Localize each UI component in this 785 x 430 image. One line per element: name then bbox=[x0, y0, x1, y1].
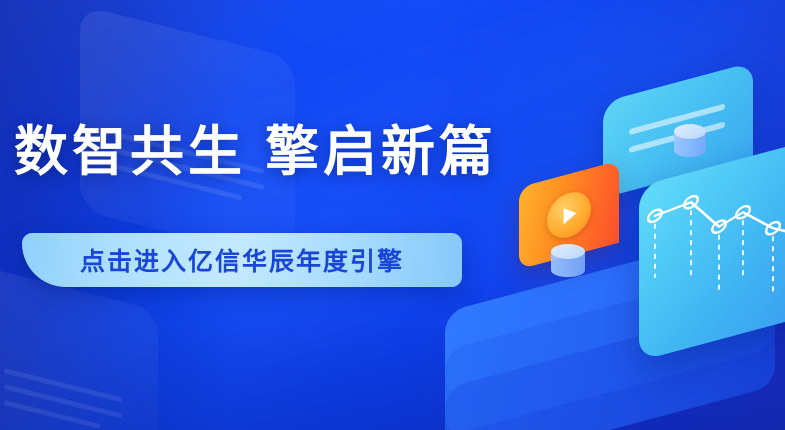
page-title: 数智共生 擎启新篇 bbox=[14, 124, 497, 181]
cta-button-label: 点击进入亿信华辰年度引擎 bbox=[80, 242, 404, 278]
pedestal-video-card bbox=[551, 244, 585, 280]
promo-banner: 数智共生 擎启新篇 点击进入亿信华辰年度引擎 bbox=[0, 0, 785, 430]
play-icon bbox=[563, 205, 576, 224]
play-button-circle[interactable] bbox=[547, 187, 591, 243]
ghost-panel-bottom-left bbox=[0, 266, 158, 430]
enter-annual-engine-button[interactable]: 点击进入亿信华辰年度引擎 bbox=[22, 233, 462, 287]
hero-illustration bbox=[455, 0, 785, 430]
pedestal-bubble bbox=[674, 124, 706, 158]
background-vignette-left bbox=[0, 0, 230, 430]
